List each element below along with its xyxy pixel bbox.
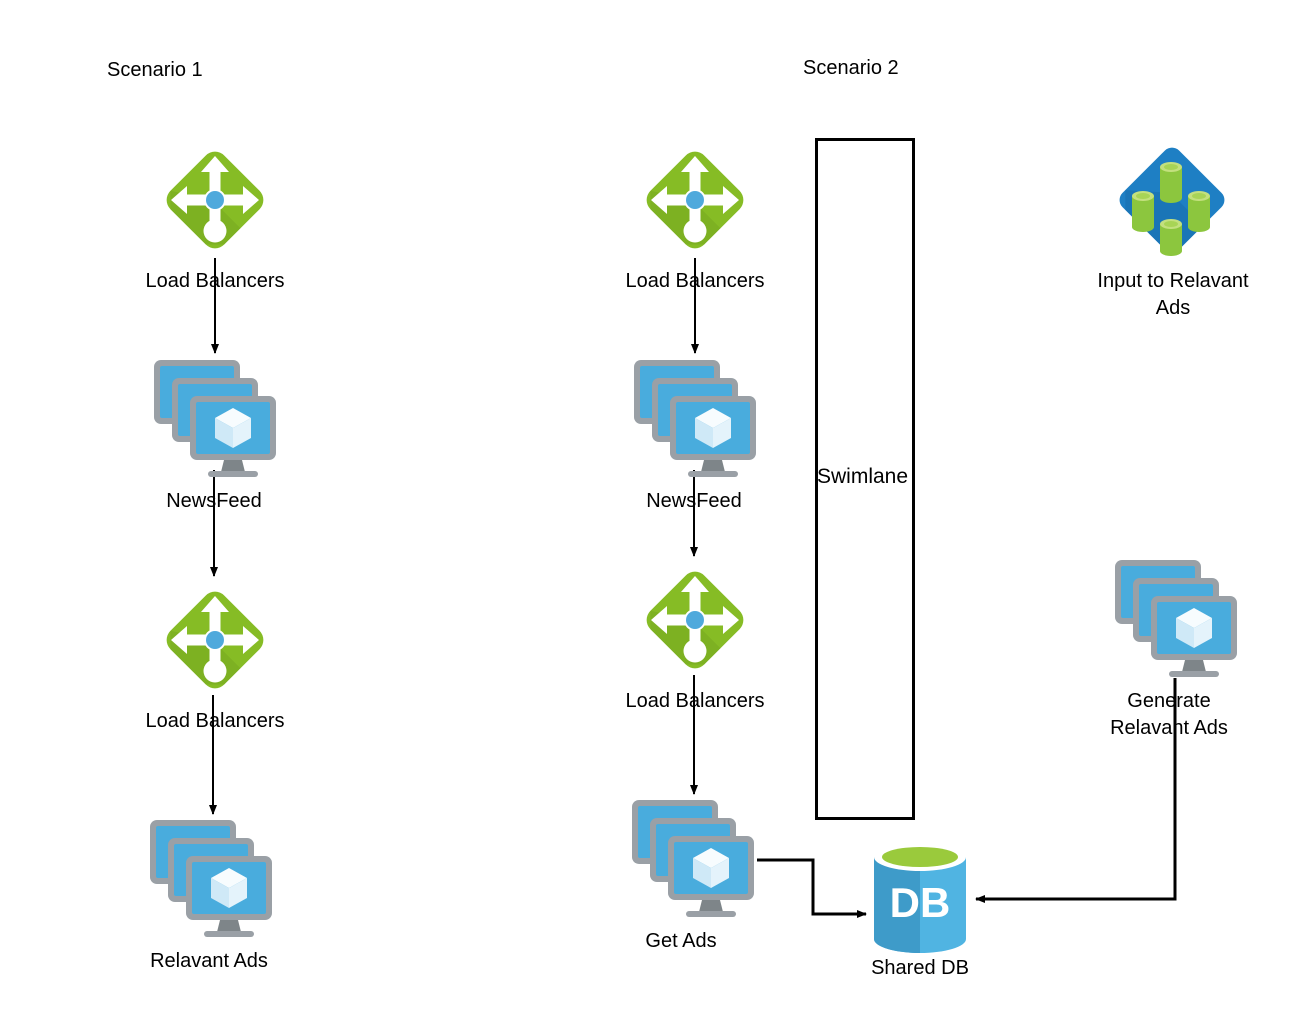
- load-balancer-icon: [635, 560, 755, 680]
- node-label-newsfeed-s1: NewsFeed: [134, 488, 294, 515]
- load-balancer-icon: [155, 580, 275, 700]
- node-load-balancer-s1-bottom[interactable]: [155, 580, 275, 700]
- node-label-load-balancer-s2-bottom: Load Balancers: [595, 688, 795, 715]
- node-generate-relevant-ads[interactable]: [1113, 558, 1239, 678]
- load-balancer-icon: [635, 140, 755, 260]
- scenario-2-title: Scenario 2: [803, 56, 899, 80]
- node-label-load-balancer-s1-top: Load Balancers: [115, 268, 315, 295]
- scenario-1-title: Scenario 1: [107, 58, 203, 82]
- virtual-machine-stack-icon: [148, 818, 274, 938]
- node-shared-db[interactable]: DB: [872, 843, 968, 953]
- virtual-machine-stack-icon: [1113, 558, 1239, 678]
- load-balancer-icon: [155, 140, 275, 260]
- storage-accounts-icon: [1112, 140, 1232, 260]
- node-load-balancer-s2-bottom[interactable]: [635, 560, 755, 680]
- node-label-load-balancer-s1-bottom: Load Balancers: [115, 708, 315, 735]
- node-get-ads[interactable]: [630, 798, 756, 918]
- virtual-machine-stack-icon: [152, 358, 278, 478]
- virtual-machine-stack-icon: [632, 358, 758, 478]
- node-label-shared-db: Shared DB: [845, 955, 995, 982]
- node-label-input-to-relevant-ads: Input to Relavant Ads: [1073, 268, 1273, 322]
- node-label-load-balancer-s2-top: Load Balancers: [595, 268, 795, 295]
- edge-generate-ads-to-shared-db: [976, 678, 1175, 899]
- node-input-to-relevant-ads[interactable]: [1112, 140, 1232, 260]
- node-relevant-ads-s1[interactable]: [148, 818, 274, 938]
- swimlane-label: Swimlane: [817, 465, 908, 489]
- node-newsfeed-s1[interactable]: [152, 358, 278, 478]
- node-label-generate-relevant-ads: Generate Relavant Ads: [1079, 688, 1259, 742]
- diagram-canvas: Scenario 1 Scenario 2 Swimlane: [0, 0, 1305, 1030]
- database-badge-text: DB: [890, 879, 951, 926]
- edge-get-ads-to-shared-db: [757, 860, 866, 914]
- node-load-balancer-s1-top[interactable]: [155, 140, 275, 260]
- database-icon: DB: [872, 843, 968, 953]
- node-label-relevant-ads-s1: Relavant Ads: [129, 948, 289, 975]
- node-label-get-ads: Get Ads: [611, 928, 751, 955]
- node-load-balancer-s2-top[interactable]: [635, 140, 755, 260]
- virtual-machine-stack-icon: [630, 798, 756, 918]
- node-newsfeed-s2[interactable]: [632, 358, 758, 478]
- node-label-newsfeed-s2: NewsFeed: [614, 488, 774, 515]
